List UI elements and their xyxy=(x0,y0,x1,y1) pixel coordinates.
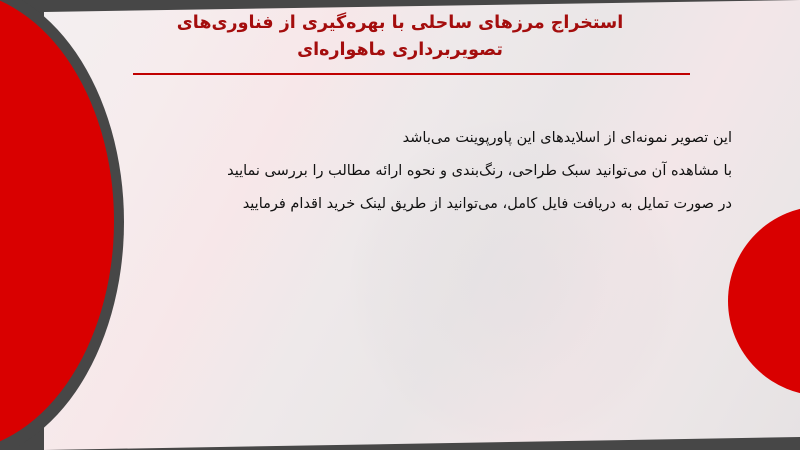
slide-title: استخراج مرزهای ساحلی با بهره‌گیری از فنا… xyxy=(0,10,800,64)
slide-body-text: این تصویر نمونه‌ای از اسلایدهای این پاور… xyxy=(112,122,732,221)
body-text-line-2: با مشاهده آن می‌توانید سبک طراحی، رنگ‌بن… xyxy=(112,155,732,188)
slide-title-line-1: استخراج مرزهای ساحلی با بهره‌گیری از فنا… xyxy=(0,10,800,37)
slide-title-line-2: تصویربرداری ماهواره‌ای xyxy=(0,37,800,64)
presentation-slide: استخراج مرزهای ساحلی با بهره‌گیری از فنا… xyxy=(0,0,800,450)
red-circle-decoration xyxy=(728,206,800,396)
title-underline-rule xyxy=(133,73,690,75)
slide-content-panel xyxy=(44,0,800,450)
body-text-line-1: این تصویر نمونه‌ای از اسلایدهای این پاور… xyxy=(112,122,732,155)
body-text-line-3: در صورت تمایل به دریافت فایل کامل، می‌تو… xyxy=(112,188,732,221)
